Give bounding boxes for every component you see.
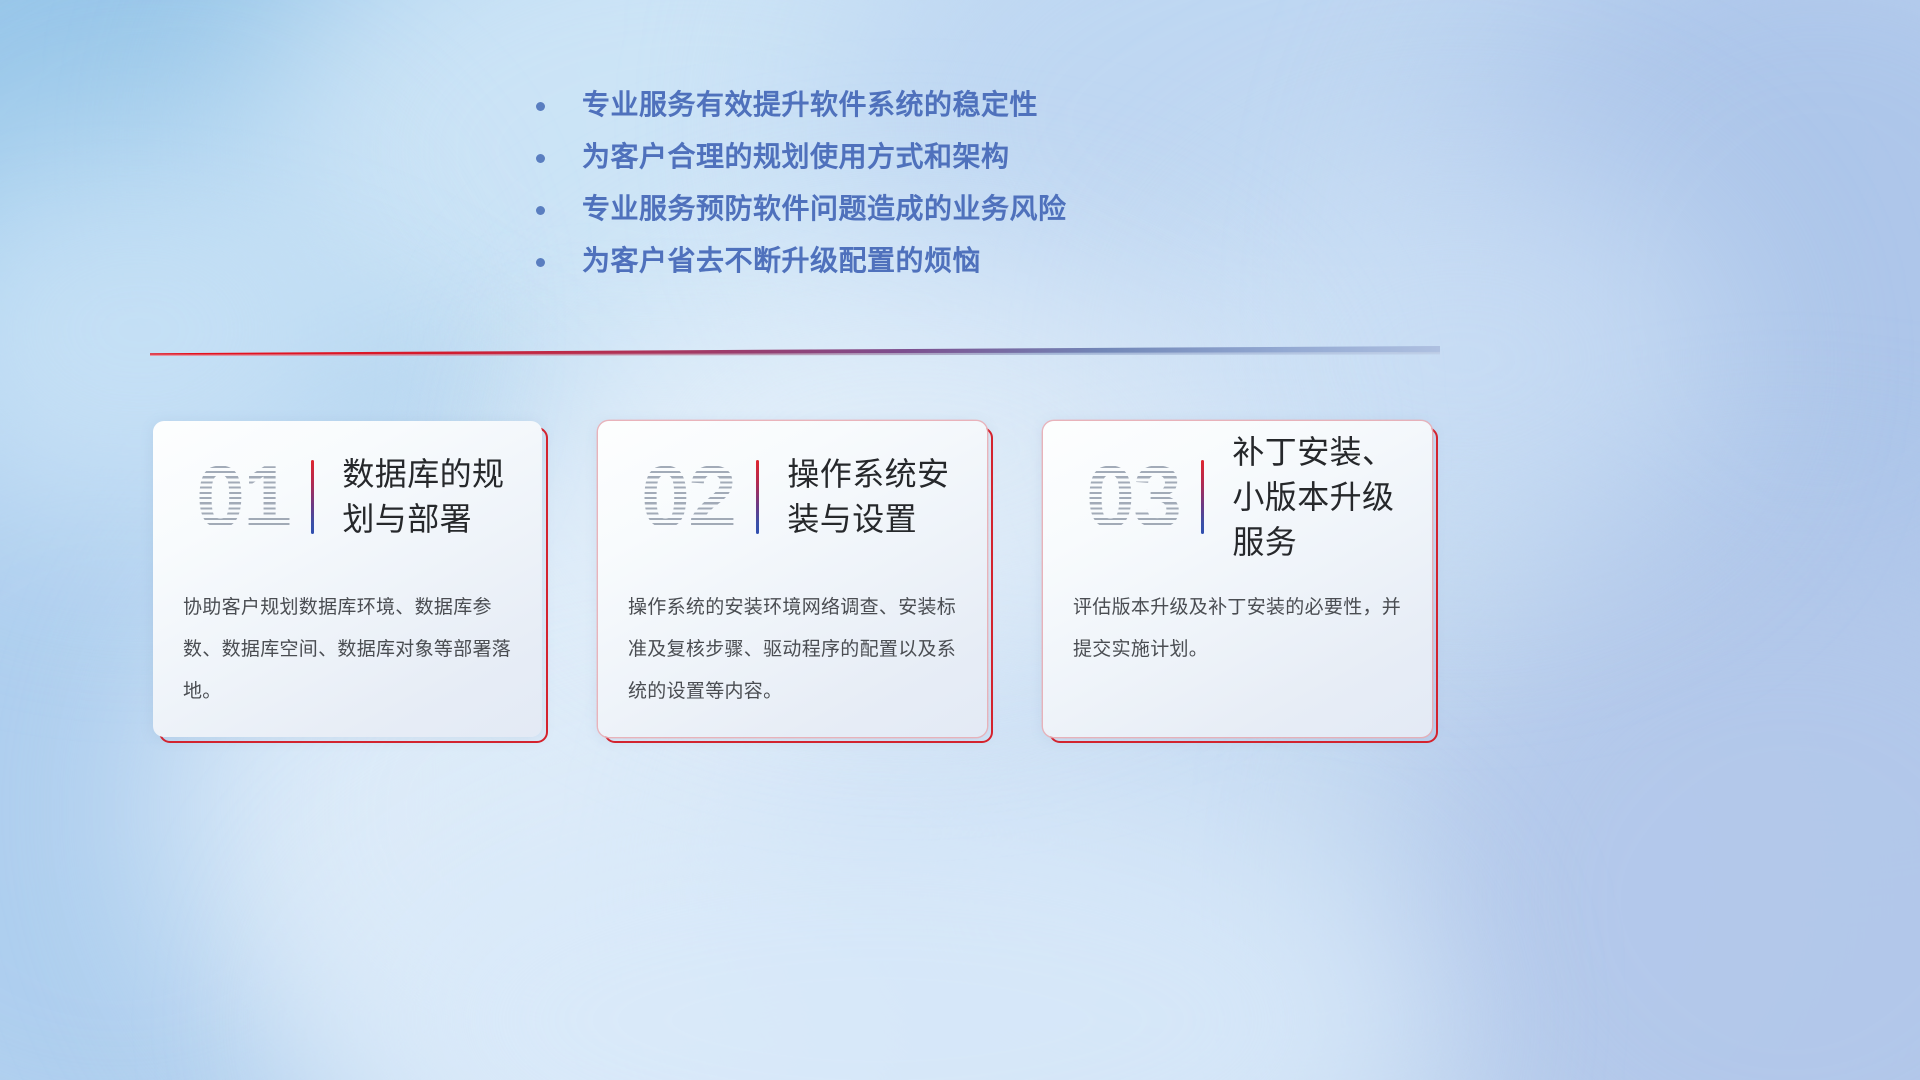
card-accent-bar bbox=[311, 460, 314, 534]
card-number: 03 bbox=[1065, 445, 1201, 549]
card-surface: 01 数据库的规划与部署 协助客户规划数据库环境、数据库参数、数据库空间、数据库… bbox=[153, 421, 542, 737]
card-description: 协助客户规划数据库环境、数据库参数、数据库空间、数据库对象等部署落地。 bbox=[183, 587, 516, 713]
card-accent-bar bbox=[756, 460, 759, 534]
card-title: 操作系统安装与设置 bbox=[763, 452, 987, 542]
card-surface: 03 补丁安装、小版本升级服务 评估版本升级及补丁安装的必要性，并提交实施计划。 bbox=[1043, 421, 1432, 737]
card-surface: 02 操作系统安装与设置 操作系统的安装环境网络调查、安装标准及复核步骤、驱动程… bbox=[598, 421, 987, 737]
service-card-group: 01 数据库的规划与部署 协助客户规划数据库环境、数据库参数、数据库空间、数据库… bbox=[0, 0, 1920, 1080]
card-number: 02 bbox=[620, 445, 756, 549]
card-accent-bar bbox=[1201, 460, 1204, 534]
slide-canvas: 专业服务有效提升软件系统的稳定性 为客户合理的规划使用方式和架构 专业服务预防软… bbox=[0, 0, 1920, 1080]
card-header: 01 数据库的规划与部署 bbox=[153, 442, 542, 552]
card-header: 02 操作系统安装与设置 bbox=[598, 442, 987, 552]
card-title: 数据库的规划与部署 bbox=[318, 452, 542, 542]
card-number: 01 bbox=[175, 445, 311, 549]
card-description: 评估版本升级及补丁安装的必要性，并提交实施计划。 bbox=[1073, 587, 1406, 671]
card-description: 操作系统的安装环境网络调查、安装标准及复核步骤、驱动程序的配置以及系统的设置等内… bbox=[628, 587, 961, 713]
card-header: 03 补丁安装、小版本升级服务 bbox=[1043, 442, 1432, 552]
card-title: 补丁安装、小版本升级服务 bbox=[1208, 430, 1432, 565]
service-card[interactable]: 02 操作系统安装与设置 操作系统的安装环境网络调查、安装标准及复核步骤、驱动程… bbox=[598, 421, 987, 737]
service-card[interactable]: 01 数据库的规划与部署 协助客户规划数据库环境、数据库参数、数据库空间、数据库… bbox=[153, 421, 542, 737]
service-card[interactable]: 03 补丁安装、小版本升级服务 评估版本升级及补丁安装的必要性，并提交实施计划。 bbox=[1043, 421, 1432, 737]
